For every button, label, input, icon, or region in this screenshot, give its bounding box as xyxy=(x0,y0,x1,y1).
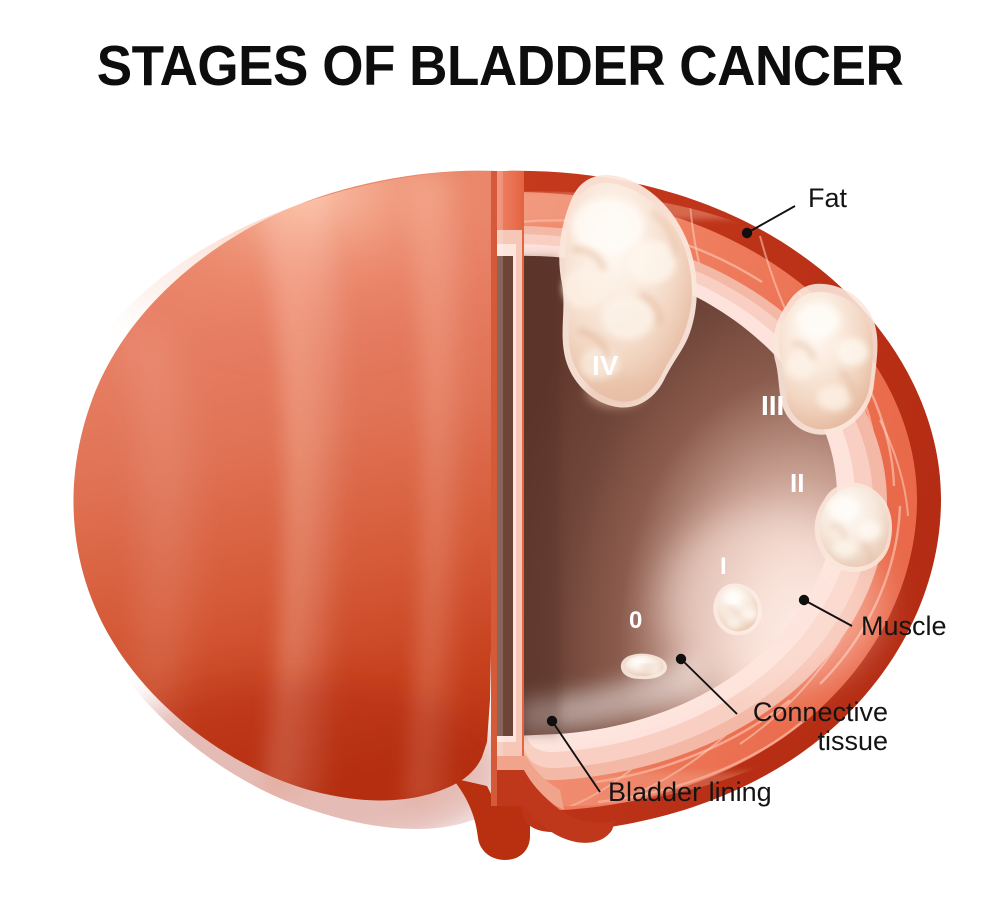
illustration-canvas: STAGES OF BLADDER CANCER xyxy=(0,0,1000,897)
dot-connective-tissue xyxy=(676,654,686,664)
stage-label-iii: III xyxy=(761,390,784,421)
tumor-stage-iii xyxy=(773,284,877,435)
callout-label-connective-tissue: Connective tissue xyxy=(742,698,888,756)
leader-fat xyxy=(747,206,795,233)
stage-label-i: I xyxy=(720,553,727,580)
tumor-stage-ii xyxy=(815,483,892,572)
dot-bladder-lining xyxy=(547,716,557,726)
stage-label-iv: IV xyxy=(592,350,619,381)
cut-edge-face xyxy=(491,171,526,806)
stage-label-ii: II xyxy=(790,468,804,498)
dot-muscle xyxy=(799,595,809,605)
stage-label-0: 0 xyxy=(629,607,642,634)
callout-label-bladder-lining: Bladder lining xyxy=(608,778,772,807)
bladder-outer-body xyxy=(73,150,560,860)
callout-label-fat: Fat xyxy=(808,184,847,213)
dot-fat xyxy=(742,228,752,238)
bladder-cancer-diagram: IV III II I 0 xyxy=(0,0,1000,897)
callout-label-muscle: Muscle xyxy=(861,612,947,641)
